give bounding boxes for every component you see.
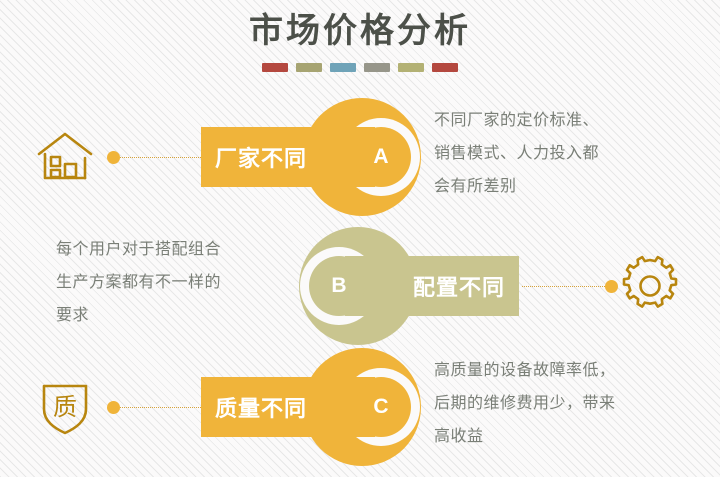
description-line: 生产方案都有不一样的 (56, 266, 324, 299)
section-badge-a: A (355, 131, 407, 183)
shield-glyph: 质 (53, 394, 77, 421)
description-line: 会有所差别 (434, 170, 702, 203)
connector-b (522, 279, 618, 293)
section-row-b: 每个用户对于搭配组合 生产方案都有不一样的 要求 配置不同 B (0, 227, 720, 347)
title-dash-4 (364, 63, 390, 72)
section-graphic-c: 质量不同 C (201, 348, 421, 468)
title-area: 市场价格分析 (0, 8, 720, 72)
factory-house-icon (34, 126, 96, 188)
section-row-c: 质 质量不同 C 高质量的设备故障率低， 后期的维修费用少，带来 高收益 (0, 348, 720, 468)
title-dash-3 (330, 63, 356, 72)
shield-quality-icon: 质 (34, 376, 96, 438)
title-dash-1 (262, 63, 288, 72)
connector-line-b (522, 286, 605, 287)
section-description-b: 每个用户对于搭配组合 生产方案都有不一样的 要求 (56, 233, 324, 332)
title-dash-2 (296, 63, 322, 72)
section-description-a: 不同厂家的定价标准、 销售模式、人力投入都 会有所差别 (434, 104, 702, 203)
gear-icon (619, 255, 681, 317)
description-line: 不同厂家的定价标准、 (434, 104, 702, 137)
section-badge-c: C (355, 381, 407, 433)
description-line: 高收益 (434, 420, 702, 453)
connector-line-a (120, 157, 203, 158)
connector-dot-a (107, 151, 120, 164)
section-description-c: 高质量的设备故障率低， 后期的维修费用少，带来 高收益 (434, 354, 702, 453)
section-graphic-a: 厂家不同 A (201, 98, 421, 218)
description-line: 每个用户对于搭配组合 (56, 233, 324, 266)
section-label-bar-c: 质量不同 (201, 377, 375, 437)
description-line: 要求 (56, 299, 324, 332)
title-dash-6 (432, 63, 458, 72)
description-line: 高质量的设备故障率低， (434, 354, 702, 387)
title-dash-5 (398, 63, 424, 72)
section-label-a: 厂家不同 (215, 141, 307, 173)
section-graphic-b: 配置不同 B (299, 227, 519, 347)
section-row-a: 厂家不同 A 不同厂家的定价标准、 销售模式、人力投入都 会有所差别 (0, 98, 720, 218)
description-line: 销售模式、人力投入都 (434, 137, 702, 170)
section-label-bar-b: 配置不同 (345, 256, 519, 316)
description-line: 后期的维修费用少，带来 (434, 387, 702, 420)
section-label-bar-a: 厂家不同 (201, 127, 375, 187)
title-divider-dashes (0, 63, 720, 72)
connector-a (107, 150, 203, 164)
section-label-c: 质量不同 (215, 391, 307, 423)
infographic-page: 市场价格分析 (0, 0, 720, 477)
connector-line-c (120, 407, 203, 408)
page-title: 市场价格分析 (0, 8, 720, 54)
section-label-b: 配置不同 (413, 270, 505, 302)
section-badge-b: B (313, 260, 365, 312)
connector-dot-c (107, 401, 120, 414)
connector-dot-b (605, 280, 618, 293)
connector-c (107, 400, 203, 414)
